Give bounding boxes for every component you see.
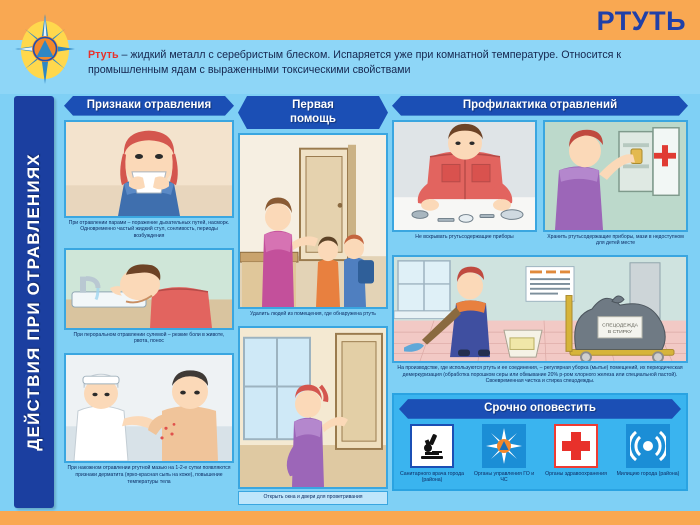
illustration-person-with-handkerchief [64, 120, 234, 218]
section-header-prevention: Профилактика отравлений [392, 96, 688, 116]
laundry-bag-label: СПЕЦОДЕЖДА [602, 322, 639, 328]
microscope-icon[interactable] [410, 424, 454, 468]
illustration-girl-opening-window-and-door [238, 326, 388, 489]
illustration-woman-leading-children-out-of-room [238, 133, 388, 309]
notify-caption-civil-defense: Органы управления ГО и ЧС [471, 471, 537, 485]
poster-root: РТУТЬ Ртуть – жидкий металл с серебристы… [0, 0, 700, 525]
panel-signs-2: При пероральном отравлении сулемой – рез… [64, 248, 234, 348]
bottom-orange-band [0, 511, 700, 525]
caption-prevention-1: Не вскрывать ртутьсодержащие приборы [392, 232, 537, 244]
panel-prevention-2: Хранить ртутьсодержащие приборы, мази в … [543, 120, 688, 250]
red-cross-icon[interactable] [554, 424, 598, 468]
intro-body: – жидкий металл с серебристым блеском. И… [88, 49, 621, 76]
illustration-woman-at-wall-medicine-cabinet [543, 120, 688, 232]
caption-signs-2: При пероральном отравлении сулемой – рез… [64, 330, 234, 348]
section-header-first-aid-line1: Первая [292, 99, 334, 111]
section-header-signs: Признаки отравления [64, 96, 234, 116]
notify-caption-sanitary-doctor: Санитарного врача города (района) [399, 471, 465, 485]
emercom-emblem [12, 10, 78, 88]
caption-prevention-2: Хранить ртутьсодержащие приборы, мази в … [543, 232, 688, 250]
side-title-text: ДЕЙСТВИЯ ПРИ ОТРАВЛЕНИЯХ [24, 153, 44, 451]
caption-first-aid-2: Открыть окна и двери для проветривания [238, 491, 388, 505]
illustration-doctor-examining-patient-skin [64, 353, 234, 463]
panel-first-aid-1: Удалить людей из помещения, где обнаруже… [238, 133, 388, 321]
column-prevention: Профилактика отравлений [392, 96, 688, 491]
notify-section: Срочно оповестить Санитарного врача [392, 393, 688, 491]
section-header-notify: Срочно оповестить [399, 399, 681, 419]
page-title: РТУТЬ [597, 6, 686, 37]
caption-first-aid-1: Удалить людей из помещения, где обнаруже… [238, 309, 388, 321]
notify-caption-police: Милицию города (района) [615, 471, 681, 478]
caption-signs-1: При отравлении парами – поражение дыхате… [64, 218, 234, 243]
notify-item-police[interactable]: Милицию города (района) [615, 424, 681, 485]
column-first-aid: Первая помощь [238, 96, 388, 510]
notify-item-civil-defense[interactable]: Органы управления ГО и ЧС [471, 424, 537, 485]
notify-item-sanitary-doctor[interactable]: Санитарного врача города (района) [399, 424, 465, 485]
side-title-bar: ДЕЙСТВИЯ ПРИ ОТРАВЛЕНИЯХ [14, 96, 54, 508]
svg-text:В СТИРКУ: В СТИРКУ [608, 329, 633, 335]
illustration-man-at-table-with-instrument-parts [392, 120, 537, 232]
section-header-first-aid: Первая помощь [238, 96, 388, 129]
panel-signs-3: При накожном отравлении ртутной мазью на… [64, 353, 234, 488]
notify-icon-grid: Санитарного врача города (района) [399, 424, 681, 485]
intro-highlight: Ртуть [88, 49, 119, 61]
illustration-woman-mopping-floor-with-laundry-cart: СПЕЦОДЕЖДА В СТИРКУ [392, 255, 688, 363]
panel-prevention-1: Не вскрывать ртутьсодержащие приборы [392, 120, 537, 250]
notify-item-health-authority[interactable]: Органы здравоохранения [543, 424, 609, 485]
notify-caption-health-authority: Органы здравоохранения [543, 471, 609, 478]
caption-prevention-3: На производстве, где используются ртуть … [392, 363, 688, 388]
panel-first-aid-2: Открыть окна и двери для проветривания [238, 326, 388, 505]
intro-paragraph: Ртуть – жидкий металл с серебристым блес… [88, 48, 688, 78]
column-signs: Признаки отравления [64, 96, 234, 493]
siren-broadcast-icon[interactable] [626, 424, 670, 468]
section-header-first-aid-line2: помощь [290, 113, 336, 125]
panel-signs-1: При отравлении парами – поражение дыхате… [64, 120, 234, 243]
illustration-man-vomiting-over-sink [64, 248, 234, 330]
top-orange-band [0, 0, 700, 40]
panel-prevention-3: СПЕЦОДЕЖДА В СТИРКУ На производстве, где… [392, 255, 688, 388]
caption-signs-3: При накожном отравлении ртутной мазью на… [64, 463, 234, 488]
civil-defense-star-icon[interactable] [482, 424, 526, 468]
